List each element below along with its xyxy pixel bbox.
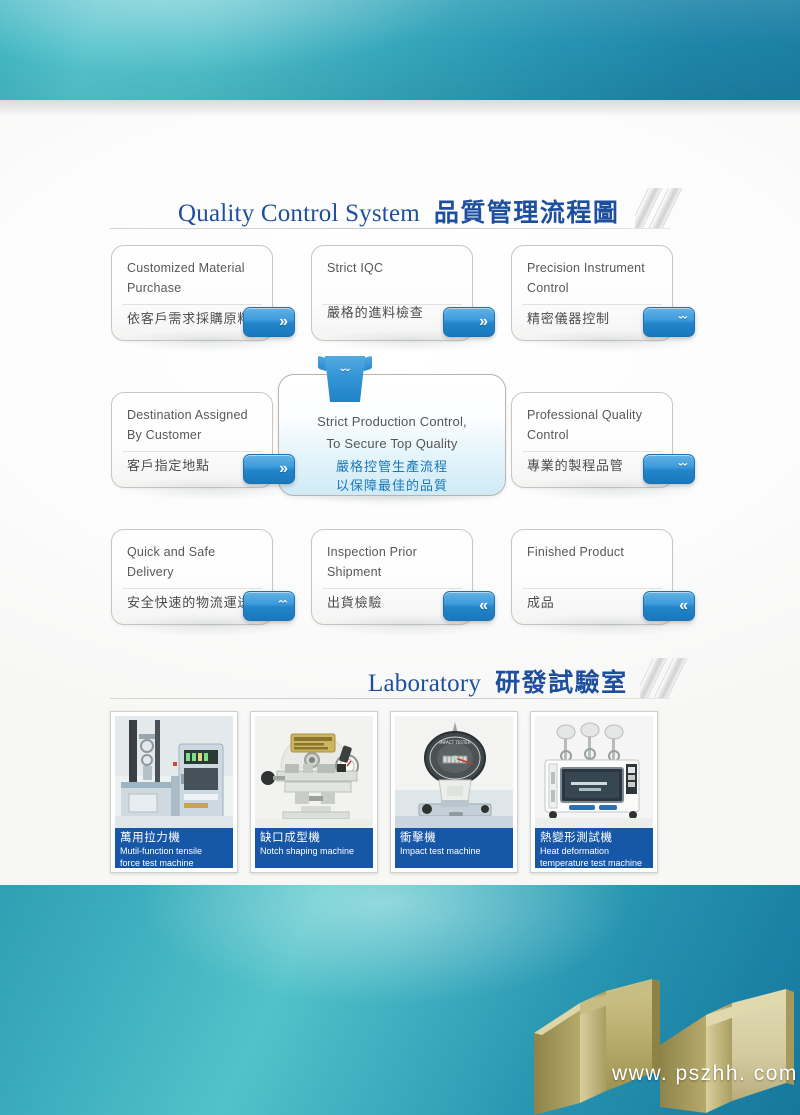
flow-box-8-separator bbox=[522, 588, 662, 589]
chevron-glyph: ˆˆ bbox=[278, 598, 287, 614]
svg-text:IMPACT TESTER: IMPACT TESTER bbox=[439, 740, 470, 745]
flow-box-6-zh: 安全快速的物流運送 bbox=[127, 594, 260, 612]
chevron-down-icon-5[interactable]: ˇˇ bbox=[643, 454, 695, 484]
lab-photo-notch bbox=[255, 716, 373, 828]
chevron-left-icon-8[interactable]: « bbox=[643, 591, 695, 621]
flow-box-5-separator bbox=[522, 451, 662, 452]
chevron-right-icon-1[interactable]: » bbox=[243, 307, 295, 337]
chevron-glyph: » bbox=[279, 461, 287, 477]
flow-box-1-zh: 依客戶需求採購原料 bbox=[127, 310, 260, 328]
lab-caption-tensile: 萬用拉力機 Mutil-function tensile force test … bbox=[115, 828, 233, 868]
lab-caption-4-zh: 熱變形測試機 bbox=[540, 831, 648, 845]
lab-photo-impact: IMPACT TESTER bbox=[395, 716, 513, 828]
lab-card-tensile[interactable]: 萬用拉力機 Mutil-function tensile force test … bbox=[110, 711, 238, 873]
flow-box-5-en-line1: Professional Quality bbox=[527, 405, 660, 425]
lab-caption-heat: 熱變形測試機 Heat deformation temperature test… bbox=[535, 828, 653, 868]
chevron-glyph: » bbox=[279, 314, 287, 330]
flow-box-4-zh: 客戶指定地點 bbox=[127, 457, 260, 475]
flow-box-2-zh: 嚴格的進料檢查 bbox=[327, 304, 460, 322]
chevron-down-icon-3[interactable]: ˇˇ bbox=[643, 307, 695, 337]
top-band-sheen bbox=[0, 0, 800, 100]
tensile-machine-image bbox=[115, 716, 233, 828]
chevron-glyph: » bbox=[479, 314, 487, 330]
heat-deformation-machine-image bbox=[535, 716, 653, 828]
flow-box-3-en-line2: Control bbox=[527, 278, 660, 298]
flow-box-3-en-line1: Precision Instrument bbox=[527, 258, 660, 278]
center-box-zh-line1: 嚴格控管生產流程 bbox=[279, 457, 505, 476]
lab-caption-1-en-line1: Mutil-function tensile bbox=[120, 846, 228, 857]
chevron-left-icon-7[interactable]: « bbox=[443, 591, 495, 621]
quality-section-title: Quality Control System品質管理流程圖 bbox=[178, 193, 619, 229]
top-divider bbox=[0, 100, 800, 115]
lab-caption-impact: 衝擊機 Impact test machine bbox=[395, 828, 513, 868]
quality-title-rule bbox=[110, 228, 670, 229]
laboratory-section-title: Laboratory研發試驗室 bbox=[368, 663, 628, 699]
laboratory-title-en: Laboratory bbox=[368, 670, 481, 697]
lab-card-impact[interactable]: IMPACT TESTER 衝擊機 Impact te bbox=[390, 711, 518, 873]
center-box-zh-line2: 以保障最佳的品質 bbox=[279, 476, 505, 495]
lab-caption-2-en-line1: Notch shaping machine bbox=[260, 846, 368, 857]
lab-caption-4-en-line2: temperature test machine bbox=[540, 858, 648, 869]
u-channel-product-image bbox=[528, 975, 800, 1115]
flow-box-5-en-line2: Control bbox=[527, 425, 660, 445]
flow-box-4-en-line1: Destination Assigned bbox=[127, 405, 260, 425]
flow-box-2-en-line1: Strict IQC bbox=[327, 258, 460, 278]
chevron-glyph: « bbox=[479, 598, 487, 614]
lab-caption-4-en-line1: Heat deformation bbox=[540, 846, 648, 857]
lab-caption-3-zh: 衝擊機 bbox=[400, 831, 508, 845]
flow-box-1-separator bbox=[122, 304, 262, 305]
chevron-glyph: « bbox=[679, 598, 687, 614]
flow-box-6-en-line1: Quick and Safe bbox=[127, 542, 260, 562]
lab-caption-3-en-line1: Impact test machine bbox=[400, 846, 508, 857]
flow-box-7-en-line1: Inspection Prior bbox=[327, 542, 460, 562]
chevron-down-badge-icon[interactable]: ˇˇ bbox=[318, 356, 372, 402]
flow-box-4-en-line2: By Customer bbox=[127, 425, 260, 445]
lab-photo-tensile bbox=[115, 716, 233, 828]
laboratory-title-rule bbox=[110, 698, 670, 699]
lab-caption-2-zh: 缺口成型機 bbox=[260, 831, 368, 845]
chevron-glyph: ˇˇ bbox=[678, 461, 687, 477]
flow-box-1-en-line1: Customized Material bbox=[127, 258, 260, 278]
top-teal-band bbox=[0, 0, 800, 100]
lab-caption-notch: 缺口成型機 Notch shaping machine bbox=[255, 828, 373, 868]
laboratory-title-zh: 研發試驗室 bbox=[495, 670, 628, 697]
flow-box-1-en-line2: Purchase bbox=[127, 278, 260, 298]
chevron-glyph: ˇˇ bbox=[678, 314, 687, 330]
flow-box-7-en-line2: Shipment bbox=[327, 562, 460, 582]
chevron-right-icon-2[interactable]: » bbox=[443, 307, 495, 337]
quality-title-zh: 品質管理流程圖 bbox=[434, 200, 620, 227]
notch-shaping-machine-image bbox=[255, 716, 373, 828]
lab-card-notch[interactable]: 缺口成型機 Notch shaping machine bbox=[250, 711, 378, 873]
flow-box-7-separator bbox=[322, 588, 462, 589]
center-box-en-line1: Strict Production Control, bbox=[279, 411, 505, 433]
lab-photo-heat bbox=[535, 716, 653, 828]
chevron-right-icon-4[interactable]: » bbox=[243, 454, 295, 484]
flow-box-6-separator bbox=[122, 588, 262, 589]
lab-card-heat[interactable]: 熱變形測試機 Heat deformation temperature test… bbox=[530, 711, 658, 873]
impact-test-machine-image: IMPACT TESTER bbox=[395, 716, 513, 828]
site-watermark: www. pszhh. com bbox=[612, 1062, 798, 1086]
quality-title-en: Quality Control System bbox=[178, 200, 420, 227]
flow-box-7-zh: 出貨檢驗 bbox=[327, 594, 460, 612]
flow-box-8-zh: 成品 bbox=[527, 594, 660, 612]
flow-box-strict-production-control[interactable]: Strict Production Control, To Secure Top… bbox=[278, 374, 506, 496]
flow-box-4-separator bbox=[122, 451, 262, 452]
lab-caption-1-zh: 萬用拉力機 bbox=[120, 831, 228, 845]
center-box-en-line2: To Secure Top Quality bbox=[279, 433, 505, 455]
flow-box-5-zh: 專業的製程品管 bbox=[527, 457, 660, 475]
badge-chevron-glyph: ˇˇ bbox=[318, 368, 372, 381]
flow-box-8-en-line1: Finished Product bbox=[527, 542, 660, 562]
flow-box-6-en-line2: Delivery bbox=[127, 562, 260, 582]
flow-box-3-separator bbox=[522, 304, 662, 305]
chevron-up-icon-6[interactable]: ˆˆ bbox=[243, 591, 295, 621]
flow-box-3-zh: 精密儀器控制 bbox=[527, 310, 660, 328]
page-root: Quality Control System品質管理流程圖 Customized… bbox=[0, 0, 800, 1115]
lab-caption-1-en-line2: force test machine bbox=[120, 858, 228, 869]
